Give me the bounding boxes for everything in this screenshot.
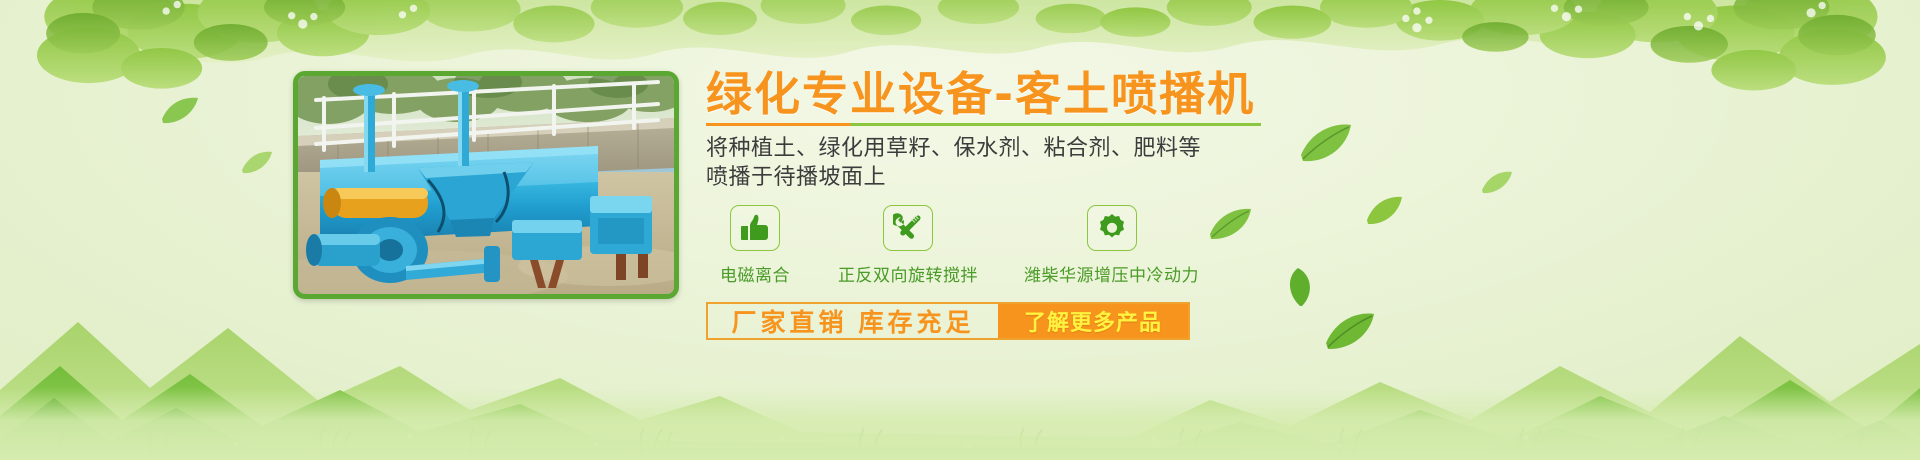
feature-list: 电磁离合 [706, 205, 1406, 286]
subtitle-line-2: 喷播于待播坡面上 [706, 162, 1406, 191]
cta-slogan: 厂家直销 库存充足 [708, 304, 998, 338]
floating-leaf-icon [1480, 170, 1514, 196]
floating-leaf-icon [240, 150, 274, 176]
gear-icon [1087, 205, 1137, 251]
banner-content: 绿化专业设备-客土喷播机 将种植土、绿化用草籽、保水剂、粘合剂、肥料等 喷播于待… [706, 68, 1406, 340]
cta-bar: 厂家直销 库存充足 了解更多产品 [706, 302, 1190, 340]
subtitle-line-1: 将种植土、绿化用草籽、保水剂、粘合剂、肥料等 [706, 133, 1406, 162]
title-divider [706, 123, 1261, 126]
learn-more-button[interactable]: 了解更多产品 [998, 304, 1188, 338]
promo-banner: 绿化专业设备-客土喷播机 将种植土、绿化用草籽、保水剂、粘合剂、肥料等 喷播于待… [0, 0, 1920, 460]
page-title: 绿化专业设备-客土喷播机 [706, 68, 1406, 120]
feature-label: 潍柴华源增压中冷动力 [1024, 261, 1199, 286]
feature-label: 电磁离合 [720, 261, 790, 286]
product-photo[interactable] [293, 71, 679, 299]
feature-label: 正反双向旋转搅拌 [838, 261, 978, 286]
wrench-screwdriver-icon [883, 205, 933, 251]
feature-item-electromagnetic-clutch[interactable]: 电磁离合 [720, 205, 790, 286]
thumbs-up-icon [730, 205, 780, 251]
grass-overlay [0, 388, 1920, 460]
product-photo-image [298, 76, 674, 294]
floating-leaf-icon [160, 96, 200, 126]
feature-item-turbo-engine[interactable]: 潍柴华源增压中冷动力 [1024, 205, 1199, 286]
feature-item-bidirectional-mixing[interactable]: 正反双向旋转搅拌 [838, 205, 978, 286]
